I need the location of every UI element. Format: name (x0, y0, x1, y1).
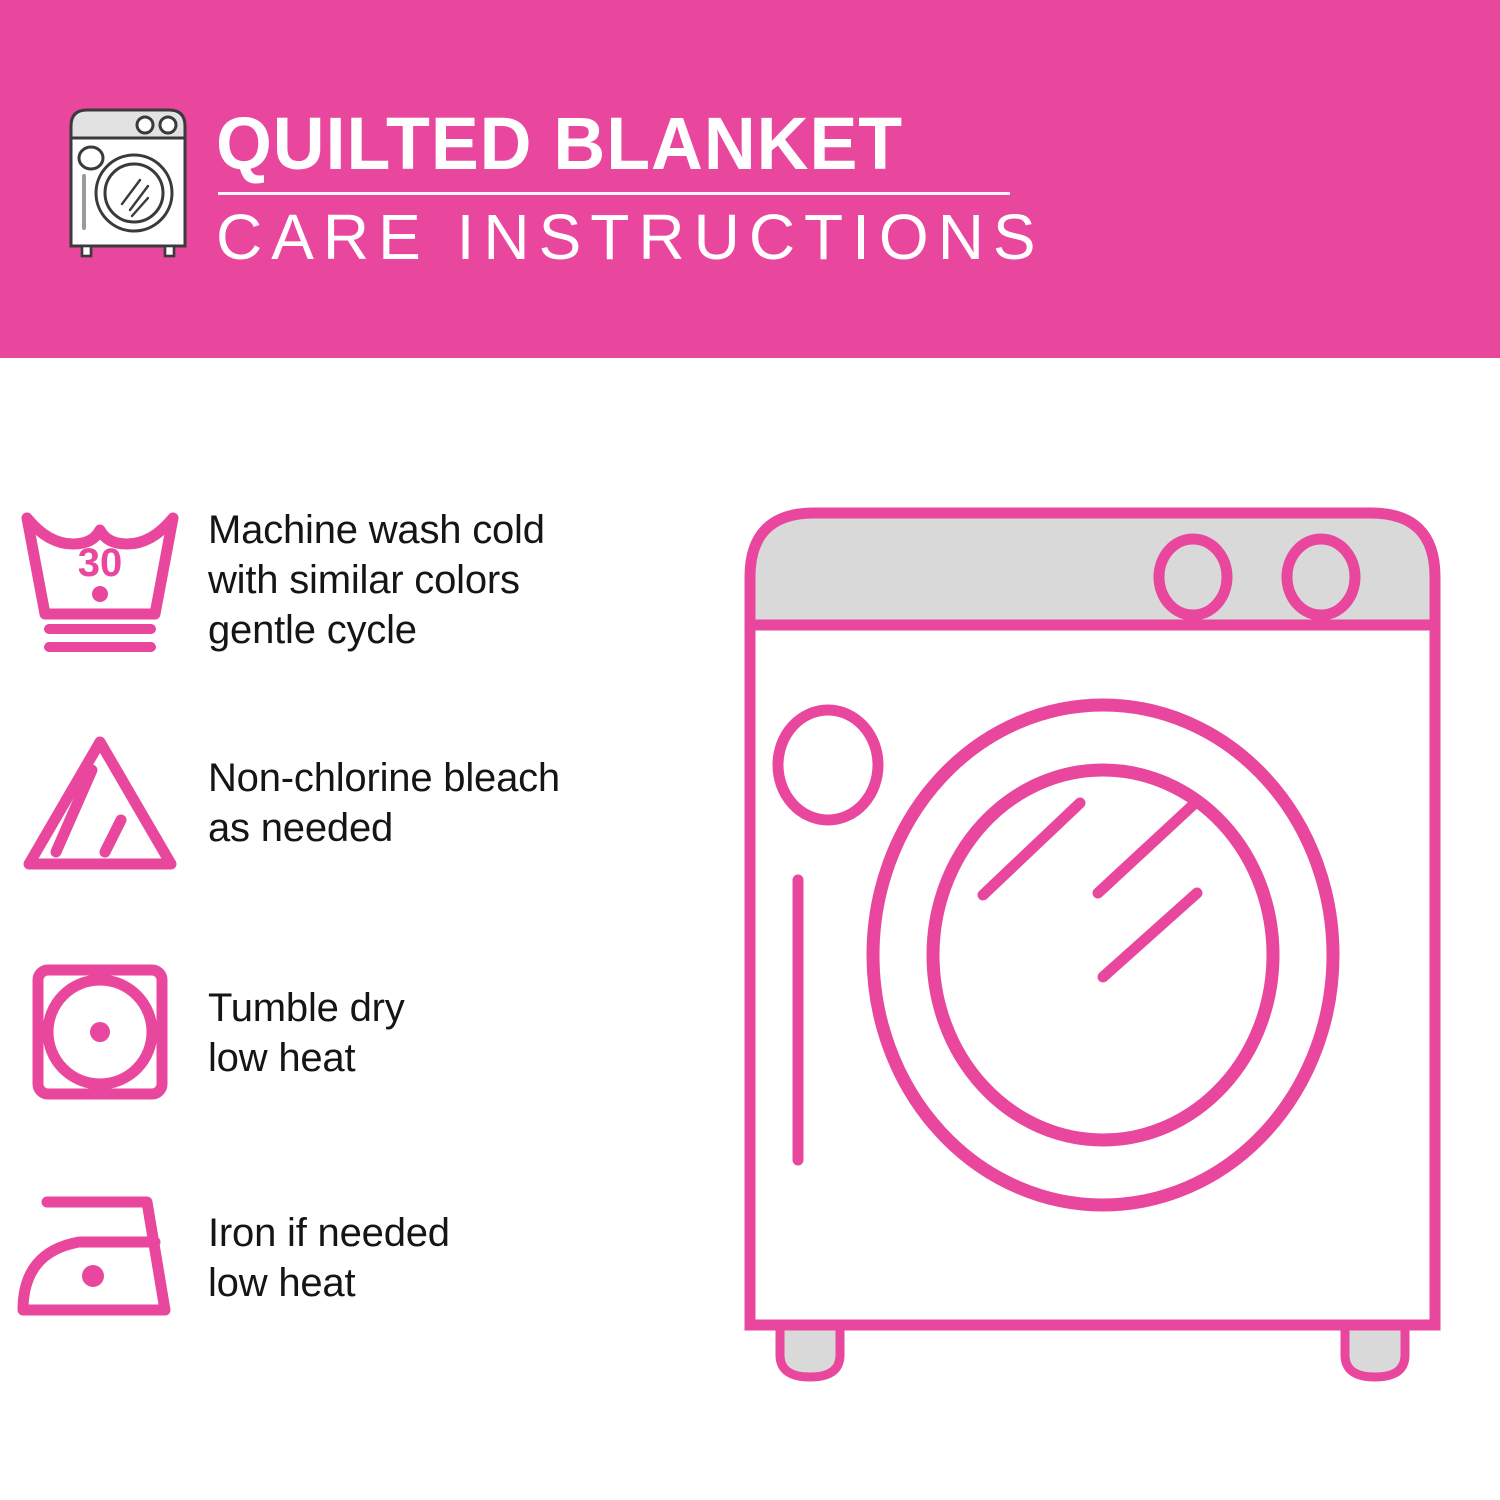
wash-temperature-label: 30 (77, 541, 122, 585)
knob-right (1287, 539, 1355, 615)
title-divider (218, 192, 1010, 195)
page-subtitle: CARE INSTRUCTIONS (216, 201, 1016, 273)
iron-low-heat-symbol (0, 1188, 200, 1328)
care-text-machine-wash: Machine wash cold with similar colors ge… (200, 505, 545, 655)
care-text-bleach: Non-chlorine bleach as needed (200, 753, 560, 853)
page-title: QUILTED BLANKET (216, 104, 992, 184)
front-load-washing-machine-illustration (735, 495, 1450, 1415)
door-inner-ring (933, 770, 1273, 1140)
care-line: gentle cycle (208, 605, 545, 655)
header-text-block: QUILTED BLANKET CARE INSTRUCTIONS (216, 104, 1016, 273)
care-line: Tumble dry (208, 983, 405, 1033)
care-instructions-infographic: QUILTED BLANKET CARE INSTRUCTIONS 30 (0, 0, 1500, 1500)
care-row-tumble-dry: Tumble dry low heat (0, 948, 730, 1118)
care-text-tumble-dry: Tumble dry low heat (200, 983, 405, 1083)
care-row-bleach: Non-chlorine bleach as needed (0, 718, 730, 888)
care-text-iron: Iron if needed low heat (200, 1208, 450, 1308)
care-line: low heat (208, 1258, 450, 1308)
knob-left (1159, 539, 1227, 615)
care-row-iron: Iron if needed low heat (0, 1180, 730, 1335)
care-line: Iron if needed (208, 1208, 450, 1258)
header-band: QUILTED BLANKET CARE INSTRUCTIONS (0, 0, 1500, 358)
tumble-dry-low-symbol (0, 958, 200, 1108)
care-line: with similar colors (208, 555, 545, 605)
care-line: Machine wash cold (208, 505, 545, 555)
care-row-machine-wash: 30 Machine wash cold with similar colors… (0, 490, 730, 670)
care-line: low heat (208, 1033, 405, 1083)
care-line: as needed (208, 803, 560, 853)
washing-machine-icon (62, 106, 194, 258)
detergent-button (778, 710, 878, 820)
machine-wash-30-gentle-symbol: 30 (0, 500, 200, 660)
care-line: Non-chlorine bleach (208, 753, 560, 803)
non-chlorine-bleach-symbol (0, 728, 200, 878)
